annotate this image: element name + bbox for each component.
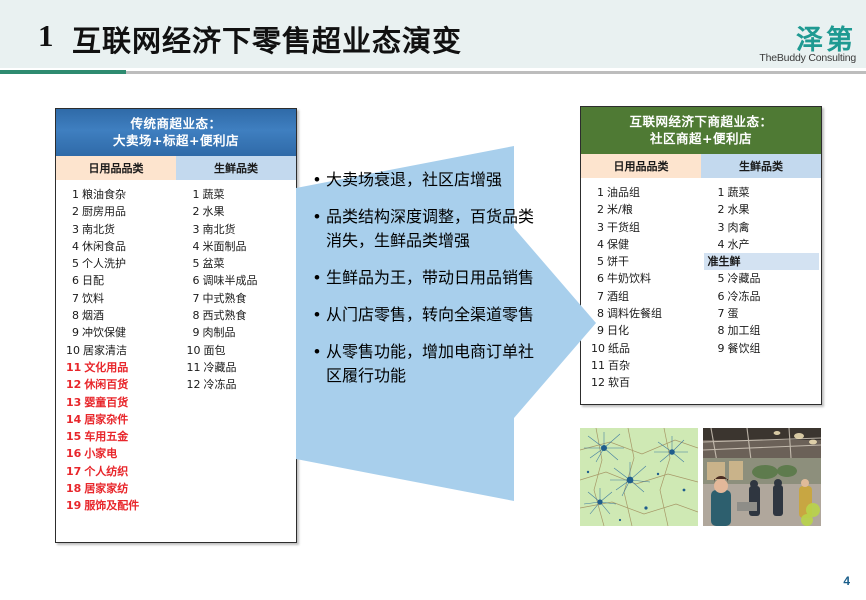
item-label: 米/粮 xyxy=(607,203,633,216)
traditional-col1-item: 1粮油食杂 xyxy=(56,186,176,203)
item-index: 3 xyxy=(712,219,725,236)
item-label: 米面制品 xyxy=(203,240,247,253)
item-index: 10 xyxy=(66,342,80,359)
item-index: 9 xyxy=(187,324,200,341)
internet-col2-item: 8加工组 xyxy=(702,322,822,339)
item-label: 休闲食品 xyxy=(82,240,126,253)
traditional-col2-item: 4米面制品 xyxy=(177,238,297,255)
item-label: 盆菜 xyxy=(203,257,225,270)
traditional-col1-item: 3南北货 xyxy=(56,221,176,238)
item-label: 车用五金 xyxy=(84,430,128,443)
item-index: 4 xyxy=(712,236,725,253)
network-map-photo xyxy=(580,428,698,526)
item-label: 小家电 xyxy=(84,447,117,460)
internet-col1-item: 6牛奶饮料 xyxy=(581,270,701,287)
item-label: 蔬菜 xyxy=(203,188,225,201)
item-label: 面包 xyxy=(204,344,226,357)
internet-col2-item: 1蔬菜 xyxy=(702,184,822,201)
insight-bullet: •生鲜品为王，带动日用品销售 xyxy=(314,266,546,290)
item-label: 服饰及配件 xyxy=(84,499,139,512)
traditional-col1-item: 11文化用品 xyxy=(56,359,176,376)
item-label: 居家杂件 xyxy=(84,413,128,426)
internet-col1-item: 11百杂 xyxy=(581,357,701,374)
item-label: 百杂 xyxy=(608,359,630,372)
item-index: 5 xyxy=(66,255,79,272)
item-index: 4 xyxy=(187,238,200,255)
item-label: 南北货 xyxy=(82,223,115,236)
insight-bullet: •品类结构深度调整，百货品类消失，生鲜品类增强 xyxy=(314,205,546,253)
item-index: 10 xyxy=(187,342,201,359)
traditional-col2-item: 12冷冻品 xyxy=(177,376,297,393)
traditional-col2-list: 1蔬菜2水果3南北货4米面制品5盆菜6调味半成品7中式熟食8西式熟食9肉制品10… xyxy=(177,180,297,542)
item-index: 11 xyxy=(187,359,201,376)
insight-bullet-text: 从门店零售，转向全渠道零售 xyxy=(326,303,534,327)
item-label: 酒组 xyxy=(607,290,629,303)
traditional-table-title-line2: 大卖场+标超+便利店 xyxy=(56,132,296,149)
item-index: 2 xyxy=(187,203,200,220)
internet-table-body: 1油品组2米/粮3干货组4保健5饼干6牛奶饮料7酒组8调料佐餐组9日化10纸品1… xyxy=(581,178,821,404)
traditional-col1-item: 15车用五金 xyxy=(56,428,176,445)
internet-col1-item: 12软百 xyxy=(581,374,701,391)
item-label: 软百 xyxy=(608,376,630,389)
item-index: 5 xyxy=(712,270,725,287)
item-label: 南北货 xyxy=(203,223,236,236)
item-label: 烟酒 xyxy=(82,309,104,322)
internet-col1-item: 2米/粮 xyxy=(581,201,701,218)
item-label: 蔬菜 xyxy=(728,186,750,199)
internet-col2-list: 1蔬菜2水果3肉禽4水产准生鲜5冷藏品6冷冻品7蛋8加工组9餐饮组 xyxy=(702,178,822,404)
traditional-col1-item: 4休闲食品 xyxy=(56,238,176,255)
page-number: 4 xyxy=(843,574,850,588)
internet-col2-item: 7蛋 xyxy=(702,305,822,322)
bullet-dot-icon: • xyxy=(314,303,320,327)
header-divider-teal xyxy=(0,70,126,74)
internet-col1-item: 7酒组 xyxy=(581,288,701,305)
traditional-col1-item: 6日配 xyxy=(56,272,176,289)
internet-col2-item: 6冷冻品 xyxy=(702,288,822,305)
internet-col1-item: 10纸品 xyxy=(581,340,701,357)
item-index: 6 xyxy=(66,272,79,289)
internet-col1-item: 8调料佐餐组 xyxy=(581,305,701,322)
traditional-table-header: 传统商超业态： 大卖场+标超+便利店 xyxy=(56,109,296,156)
item-index: 2 xyxy=(712,201,725,218)
transition-arrow: •大卖场衰退，社区店增强•品类结构深度调整，百货品类消失，生鲜品类增强•生鲜品为… xyxy=(296,146,596,501)
item-index: 7 xyxy=(712,305,725,322)
item-index: 6 xyxy=(712,288,725,305)
bullet-dot-icon: • xyxy=(314,266,320,290)
item-label: 调味半成品 xyxy=(203,274,258,287)
internet-table-title-line2: 社区商超+便利店 xyxy=(581,130,821,147)
insight-bullet-text: 大卖场衰退，社区店增强 xyxy=(326,168,502,192)
internet-col1-item: 5饼干 xyxy=(581,253,701,270)
item-index: 3 xyxy=(187,221,200,238)
traditional-table-subheader-row: 日用品品类 生鲜品类 xyxy=(56,156,296,180)
traditional-col2-item: 3南北货 xyxy=(177,221,297,238)
item-label: 饮料 xyxy=(82,292,104,305)
internet-col1-item: 9日化 xyxy=(581,322,701,339)
item-label: 肉禽 xyxy=(728,221,750,234)
item-label: 粮油食杂 xyxy=(82,188,126,201)
item-index: 17 xyxy=(66,463,81,480)
item-label: 水果 xyxy=(203,205,225,218)
page-title: 互联网经济下零售超业态演变 xyxy=(72,18,462,60)
item-label: 休闲百货 xyxy=(84,378,128,391)
item-index: 13 xyxy=(66,394,81,411)
insight-bullet-text: 品类结构深度调整，百货品类消失，生鲜品类增强 xyxy=(326,205,546,253)
item-index: 1 xyxy=(187,186,200,203)
company-logo-en: TheBuddy Consulting xyxy=(759,52,856,64)
traditional-col2-item: 6调味半成品 xyxy=(177,272,297,289)
traditional-table-title-line1: 传统商超业态： xyxy=(56,115,296,132)
bullet-dot-icon: • xyxy=(314,340,320,388)
traditional-col1-item: 16小家电 xyxy=(56,445,176,462)
traditional-col1-item: 17个人纺织 xyxy=(56,463,176,480)
item-index: 19 xyxy=(66,497,81,514)
traditional-format-table: 传统商超业态： 大卖场+标超+便利店 日用品品类 生鲜品类 1粮油食杂2厨房用品… xyxy=(55,108,297,543)
item-label: 居家家纺 xyxy=(84,482,128,495)
internet-col1-item: 1油品组 xyxy=(581,184,701,201)
insight-bullet-text: 从零售功能，增加电商订单社区履行功能 xyxy=(326,340,546,388)
internet-col2-item: 3肉禽 xyxy=(702,219,822,236)
item-label: 饼干 xyxy=(607,255,629,268)
item-label: 餐饮组 xyxy=(728,342,761,355)
insight-bullet: •从零售功能，增加电商订单社区履行功能 xyxy=(314,340,546,388)
item-index: 8 xyxy=(66,307,79,324)
item-index: 9 xyxy=(66,324,79,341)
item-label: 冷藏品 xyxy=(204,361,237,374)
item-index: 1 xyxy=(66,186,79,203)
internet-col2-item: 5冷藏品 xyxy=(702,270,822,287)
item-label: 冷藏品 xyxy=(728,272,761,285)
item-index: 1 xyxy=(712,184,725,201)
item-label: 居家清洁 xyxy=(83,344,127,357)
item-label: 保健 xyxy=(607,238,629,251)
item-index: 9 xyxy=(712,340,725,357)
internet-col2-item: 2水果 xyxy=(702,201,822,218)
bullet-dot-icon: • xyxy=(314,168,320,192)
internet-col1-list: 1油品组2米/粮3干货组4保健5饼干6牛奶饮料7酒组8调料佐餐组9日化10纸品1… xyxy=(581,178,702,404)
traditional-col1-item: 19服饰及配件 xyxy=(56,497,176,514)
insight-bullet: •大卖场衰退，社区店增强 xyxy=(314,168,546,192)
item-index: 16 xyxy=(66,445,81,462)
item-index: 12 xyxy=(187,376,201,393)
traditional-col2-item: 9肉制品 xyxy=(177,324,297,341)
item-index: 6 xyxy=(187,272,200,289)
traditional-col2-item: 8西式熟食 xyxy=(177,307,297,324)
supermarket-interior-photo xyxy=(703,428,821,526)
item-label: 厨房用品 xyxy=(82,205,126,218)
item-index: 5 xyxy=(187,255,200,272)
bullet-dot-icon: • xyxy=(314,205,320,253)
traditional-col1-list: 1粮油食杂2厨房用品3南北货4休闲食品5个人洗护6日配7饮料8烟酒9冲饮保健10… xyxy=(56,180,177,542)
item-index: 8 xyxy=(712,322,725,339)
item-label: 个人纺织 xyxy=(84,465,128,478)
item-label: 调料佐餐组 xyxy=(607,307,662,320)
traditional-col1-item: 2厨房用品 xyxy=(56,203,176,220)
traditional-col1-item: 8烟酒 xyxy=(56,307,176,324)
traditional-col1-item: 5个人洗护 xyxy=(56,255,176,272)
traditional-col1-item: 13婴童百货 xyxy=(56,394,176,411)
item-label: 牛奶饮料 xyxy=(607,272,651,285)
item-label: 西式熟食 xyxy=(203,309,247,322)
item-label: 蛋 xyxy=(728,307,739,320)
traditional-col1-header: 日用品品类 xyxy=(56,156,176,180)
internet-table-header: 互联网经济下商超业态： 社区商超+便利店 xyxy=(581,107,821,154)
internet-col2-header: 生鲜品类 xyxy=(701,154,821,178)
item-label: 冷冻品 xyxy=(728,290,761,303)
item-label: 油品组 xyxy=(607,186,640,199)
header-divider-gray xyxy=(0,71,866,74)
item-label: 婴童百货 xyxy=(84,396,128,409)
insight-bullet: •从门店零售，转向全渠道零售 xyxy=(314,303,546,327)
slide-canvas: 1 互联网经济下零售超业态演变 泽第 TheBuddy Consulting 传… xyxy=(0,0,866,600)
insight-bullet-text: 生鲜品为王，带动日用品销售 xyxy=(326,266,534,290)
item-label: 文化用品 xyxy=(84,361,128,374)
item-index: 18 xyxy=(66,480,81,497)
item-label: 冲饮保健 xyxy=(82,326,126,339)
item-index: 7 xyxy=(187,290,200,307)
traditional-col2-item: 1蔬菜 xyxy=(177,186,297,203)
internet-table-title-line1: 互联网经济下商超业态： xyxy=(581,113,821,130)
traditional-col2-item: 2水果 xyxy=(177,203,297,220)
traditional-col2-item: 11冷藏品 xyxy=(177,359,297,376)
insight-bullet-list: •大卖场衰退，社区店增强•品类结构深度调整，百货品类消失，生鲜品类增强•生鲜品为… xyxy=(314,168,546,401)
network-map-graphic-icon xyxy=(580,428,698,526)
internet-col2-subgroup-header: 准生鲜 xyxy=(704,253,820,270)
page-title-number: 1 xyxy=(38,18,54,54)
item-index: 12 xyxy=(66,376,81,393)
traditional-col1-item: 7饮料 xyxy=(56,290,176,307)
internet-col2-item: 4水产 xyxy=(702,236,822,253)
internet-table-subheader-row: 日用品品类 生鲜品类 xyxy=(581,154,821,178)
item-index: 11 xyxy=(66,359,81,376)
traditional-col2-item: 10面包 xyxy=(177,342,297,359)
traditional-table-body: 1粮油食杂2厨房用品3南北货4休闲食品5个人洗护6日配7饮料8烟酒9冲饮保健10… xyxy=(56,180,296,542)
item-index: 2 xyxy=(66,203,79,220)
item-label: 肉制品 xyxy=(203,326,236,339)
item-label: 干货组 xyxy=(607,221,640,234)
traditional-col1-item: 10居家清洁 xyxy=(56,342,176,359)
internet-col1-item: 4保健 xyxy=(581,236,701,253)
item-label: 日化 xyxy=(607,324,629,337)
traditional-col2-item: 5盆菜 xyxy=(177,255,297,272)
item-label: 加工组 xyxy=(728,324,761,337)
supermarket-scene-graphic-icon xyxy=(703,428,821,526)
item-label: 冷冻品 xyxy=(204,378,237,391)
traditional-col1-item: 14居家杂件 xyxy=(56,411,176,428)
item-label: 水果 xyxy=(728,203,750,216)
internet-col2-item: 9餐饮组 xyxy=(702,340,822,357)
item-index: 8 xyxy=(187,307,200,324)
item-label: 中式熟食 xyxy=(203,292,247,305)
item-index: 14 xyxy=(66,411,81,428)
item-label: 水产 xyxy=(728,238,750,251)
traditional-col1-item: 12休闲百货 xyxy=(56,376,176,393)
item-index: 3 xyxy=(66,221,79,238)
item-index: 15 xyxy=(66,428,81,445)
traditional-col1-item: 9冲饮保健 xyxy=(56,324,176,341)
traditional-col2-header: 生鲜品类 xyxy=(176,156,296,180)
internet-col1-item: 3干货组 xyxy=(581,219,701,236)
item-index: 4 xyxy=(66,238,79,255)
traditional-col2-item: 7中式熟食 xyxy=(177,290,297,307)
item-index: 7 xyxy=(66,290,79,307)
internet-col1-header: 日用品品类 xyxy=(581,154,701,178)
item-label: 个人洗护 xyxy=(82,257,126,270)
internet-format-table: 互联网经济下商超业态： 社区商超+便利店 日用品品类 生鲜品类 1油品组2米/粮… xyxy=(580,106,822,405)
item-label: 日配 xyxy=(82,274,104,287)
traditional-col1-item: 18居家家纺 xyxy=(56,480,176,497)
item-label: 纸品 xyxy=(608,342,630,355)
